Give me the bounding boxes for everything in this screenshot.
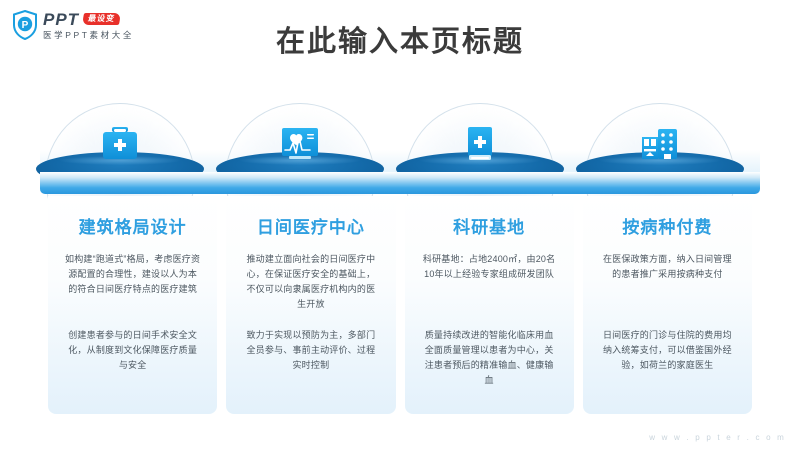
hospital-building-icon bbox=[630, 117, 690, 165]
feature-card-3[interactable]: 科研基地 科研基地：占地2400㎡，由20名10年以上经验专家组成研发团队 质量… bbox=[405, 196, 574, 414]
card-paragraph-1-1: 如构建“跑道式”格局，考虑医疗资源配置的合理性，建设以人为本的符合日间医疗特点的… bbox=[64, 252, 201, 297]
card-paragraph-2-1: 推动建立面向社会的日间医疗中心，在保证医疗安全的基础上，不仅可以向隶属医疗机构内… bbox=[242, 252, 379, 312]
card-heading-4: 按病种付费 bbox=[583, 196, 752, 238]
card-heading-2: 日间医疗中心 bbox=[226, 196, 395, 238]
stage-base-bar bbox=[40, 172, 760, 194]
feature-card-4[interactable]: 按病种付费 在医保政策方面，纳入日间管理的患者推广采用按病种支付 日间医疗的门诊… bbox=[583, 196, 752, 414]
card-heading-1: 建筑格局设计 bbox=[48, 196, 217, 238]
feature-card-group: 建筑格局设计 如构建“跑道式”格局，考虑医疗资源配置的合理性，建设以人为本的符合… bbox=[48, 196, 752, 414]
card-paragraph-4-1: 在医保政策方面，纳入日间管理的患者推广采用按病种支付 bbox=[599, 252, 736, 282]
heart-monitor-icon bbox=[270, 117, 330, 165]
feature-card-2[interactable]: 日间医疗中心 推动建立面向社会的日间医疗中心，在保证医疗安全的基础上，不仅可以向… bbox=[226, 196, 395, 414]
card-paragraph-3-1: 科研基地：占地2400㎡，由20名10年以上经验专家组成研发团队 bbox=[421, 252, 558, 282]
card-paragraph-1-2: 创建患者参与的日间手术安全文化，从制度到文化保障医疗质量与安全 bbox=[64, 328, 201, 373]
card-paragraph-4-2: 日间医疗的门诊与住院的费用均纳入统筹支付，可以借鉴国外经验，如荷兰的家庭医生 bbox=[599, 328, 736, 373]
card-paragraph-3-2: 质量持续改进的智能化临床用血全面质量管理以患者为中心，关注患者预后的精准输血、健… bbox=[421, 328, 558, 388]
footer-url: w w w . p p t e r . c o m bbox=[649, 433, 786, 442]
card-paragraph-2-2: 致力于实现以预防为主，多部门全员参与、事前主动评价、过程实时控制 bbox=[242, 328, 379, 373]
medical-briefcase-icon bbox=[90, 117, 150, 165]
page-title: 在此输入本页标题 bbox=[0, 18, 800, 60]
card-heading-3: 科研基地 bbox=[405, 196, 574, 238]
medical-book-icon bbox=[450, 117, 510, 165]
feature-card-1[interactable]: 建筑格局设计 如构建“跑道式”格局，考虑医疗资源配置的合理性，建设以人为本的符合… bbox=[48, 196, 217, 414]
